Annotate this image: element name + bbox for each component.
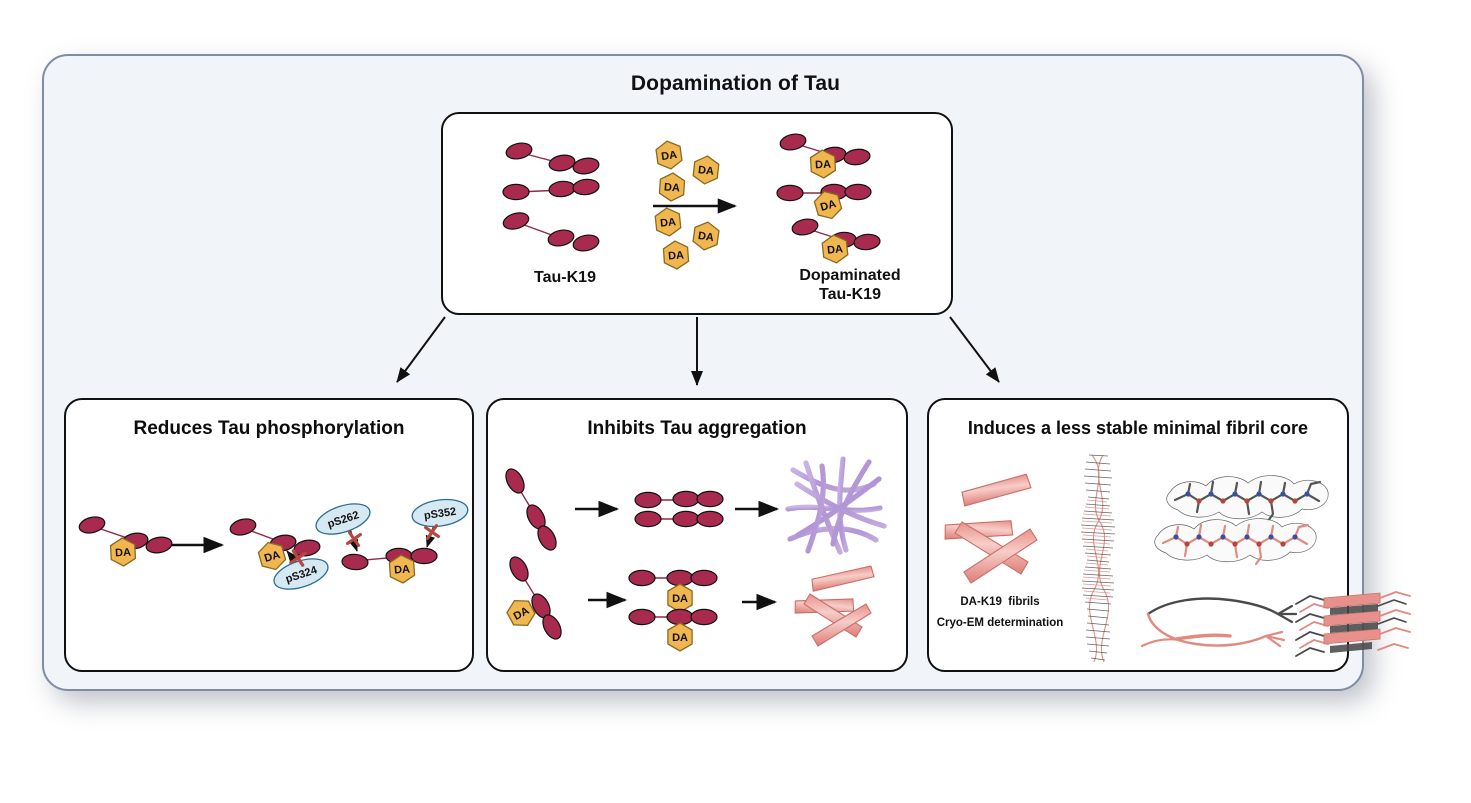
svg-text:DA: DA	[394, 563, 411, 576]
svg-text:DA: DA	[827, 243, 844, 257]
panel-title-minimal-fibril-core: Induces a less stable minimal fibril cor…	[929, 418, 1347, 439]
svg-text:DA: DA	[668, 249, 685, 262]
svg-text:DA: DA	[672, 632, 688, 644]
svg-text:DA: DA	[115, 547, 132, 560]
svg-text:DA: DA	[697, 230, 714, 244]
page-title: Dopamination of Tau	[0, 72, 1471, 96]
label-tau-k19: Tau-K19	[495, 268, 635, 287]
svg-text:DA: DA	[664, 181, 681, 194]
svg-text:DA: DA	[697, 164, 714, 178]
caption-da-k19-fibrils: DA-K19 fibrils	[930, 596, 1070, 608]
svg-text:DA: DA	[815, 159, 832, 172]
caption-cryo-em-determination: Cryo-EM determination	[920, 617, 1080, 629]
graphical-abstract-canvas: Dopamination of Tau Reduces Tau phosphor…	[0, 0, 1471, 803]
svg-text:DA: DA	[660, 149, 677, 163]
label-dopaminated-tau-k19: Dopaminated Tau-K19	[760, 266, 940, 304]
svg-text:DA: DA	[660, 216, 677, 230]
panel-title-reduces-phosphorylation: Reduces Tau phosphorylation	[66, 418, 472, 440]
panel-reduces-phosphorylation: Reduces Tau phosphorylation	[64, 398, 474, 672]
svg-text:DA: DA	[672, 593, 688, 605]
panel-title-inhibits-aggregation: Inhibits Tau aggregation	[488, 418, 906, 440]
